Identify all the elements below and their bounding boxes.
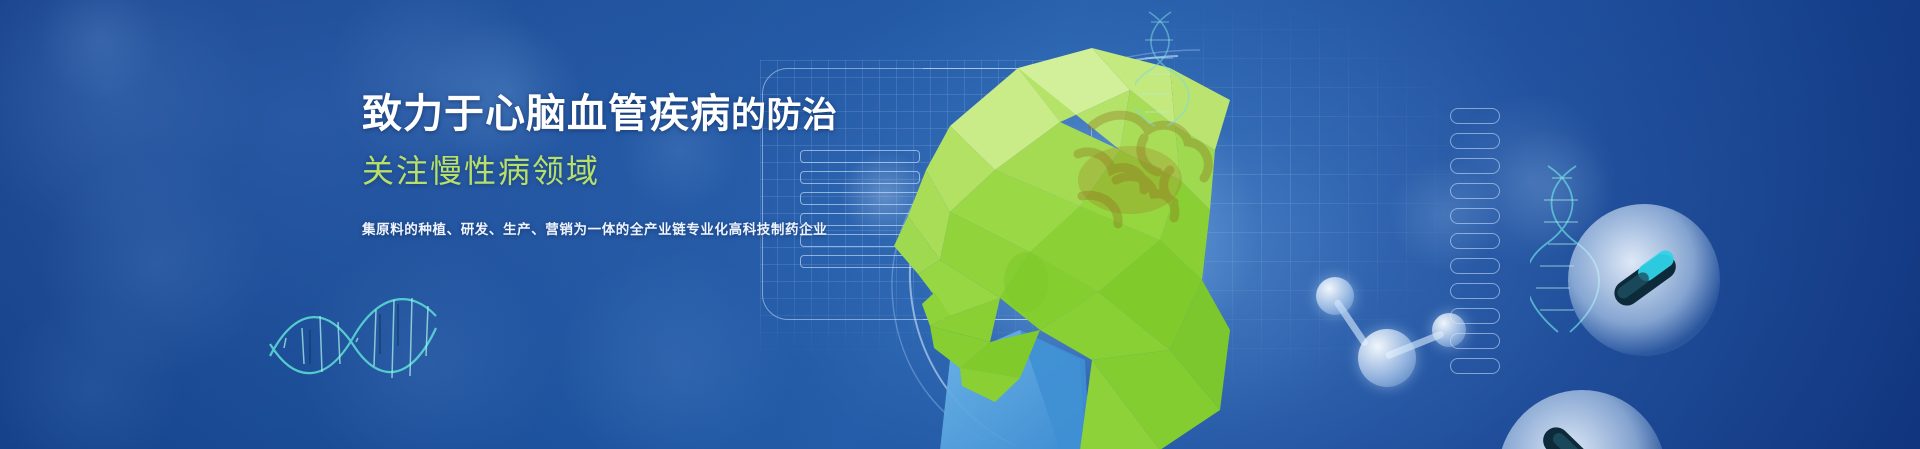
page-description: 集原料的种植、研发、生产、营销为一体的全产业链专业化高科技制药企业 <box>362 218 792 238</box>
brain-overlay-mass <box>1078 146 1182 214</box>
hud-bar <box>1450 208 1500 224</box>
page-title: 致力于心脑血管疾病的防治 <box>362 92 792 138</box>
head-graphic <box>830 30 1350 449</box>
low-poly-human-head-profile <box>830 30 1350 449</box>
molecule-atom <box>1432 313 1466 347</box>
hud-bar <box>1450 158 1500 174</box>
hero-banner: 致力于心脑血管疾病的防治 关注慢性病领域 集原料的种植、研发、生产、营销为一体的… <box>0 0 1920 449</box>
bacterium-icon <box>1568 204 1720 356</box>
headline-tail: 的防治 <box>731 96 838 135</box>
page-subtitle: 关注慢性病领域 <box>362 146 792 192</box>
bokeh-circle <box>40 150 270 380</box>
molecule-icon <box>1310 245 1480 405</box>
bokeh-circle <box>40 0 160 100</box>
cell-icon <box>1568 204 1720 356</box>
dna-double-helix <box>262 268 442 388</box>
headline-highlight: 心脑血管疾病 <box>485 92 731 136</box>
dna-double-helix <box>1135 8 1215 128</box>
bokeh-circle <box>0 300 180 449</box>
hud-bar <box>1450 108 1500 124</box>
cell-icon <box>1498 390 1666 449</box>
headline-lead: 致力于 <box>362 92 485 136</box>
hud-bar <box>1450 183 1500 199</box>
molecule-atom <box>1316 277 1354 315</box>
hud-bar <box>1450 133 1500 149</box>
bokeh-circle <box>0 0 260 240</box>
copy-block: 致力于心脑血管疾病的防治 关注慢性病领域 集原料的种植、研发、生产、营销为一体的… <box>362 92 792 238</box>
bacterium-icon <box>1498 390 1666 449</box>
molecule-atom <box>1358 329 1416 387</box>
bokeh-circle <box>560 250 790 449</box>
